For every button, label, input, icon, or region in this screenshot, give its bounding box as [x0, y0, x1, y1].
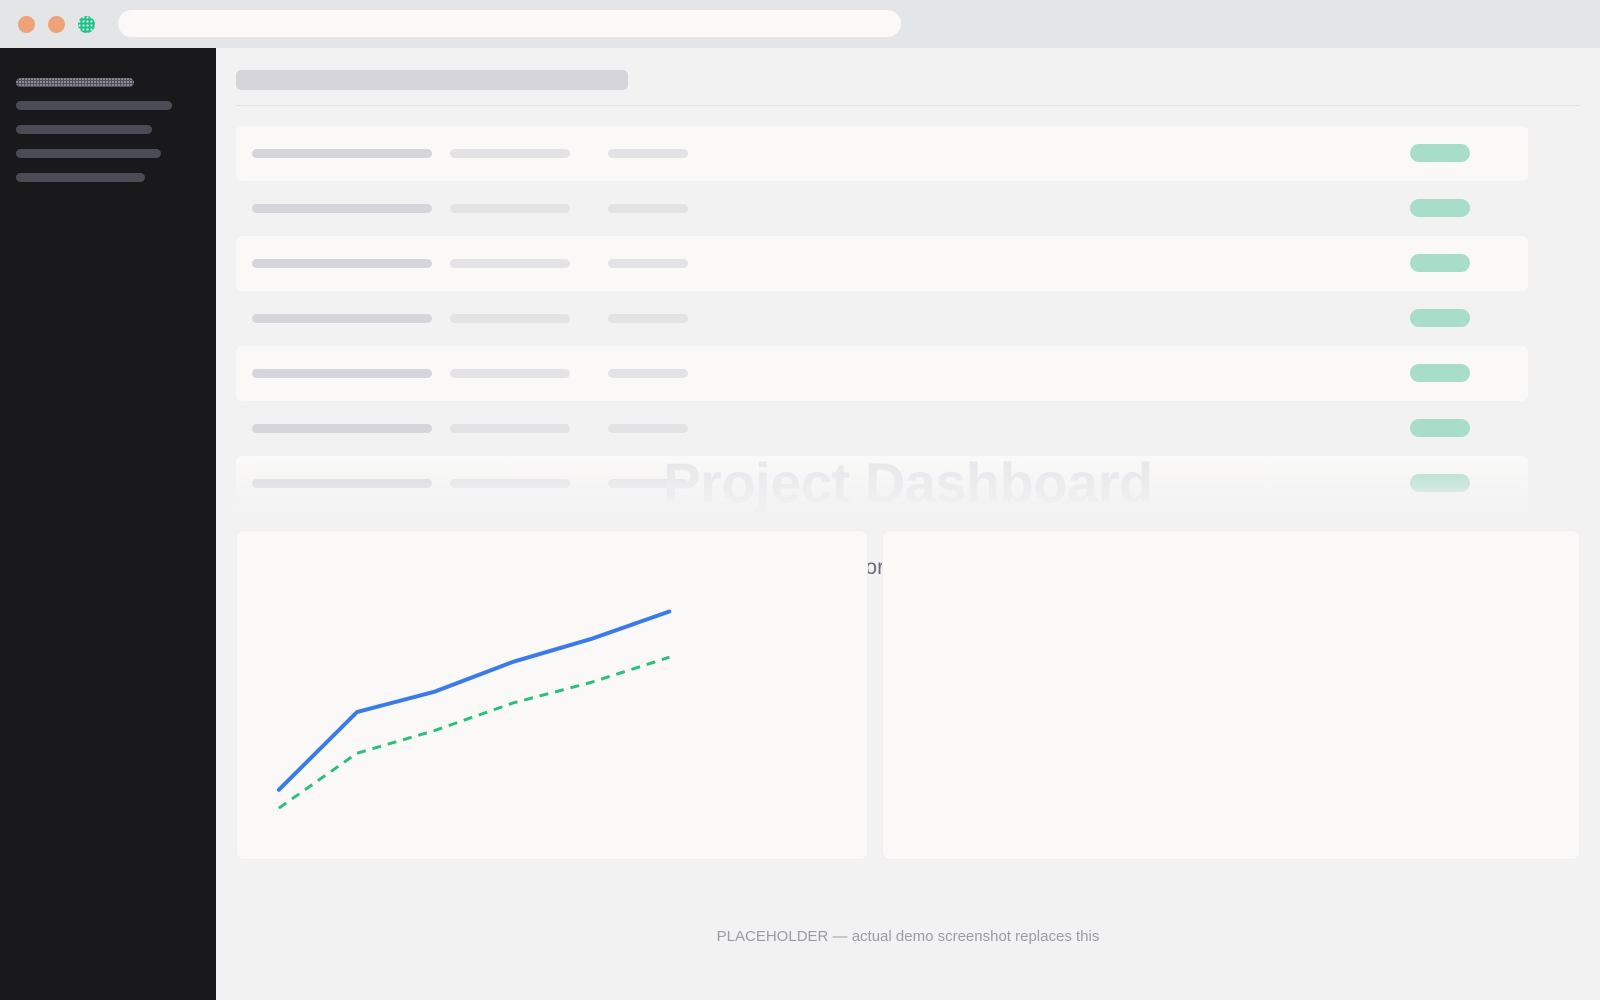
row-cell-tertiary	[608, 314, 688, 323]
row-list	[236, 126, 1528, 511]
status-badge	[1410, 419, 1470, 437]
row-cell-secondary	[450, 259, 570, 268]
table-row[interactable]	[236, 401, 1528, 456]
row-cell-primary	[252, 204, 432, 213]
table-row[interactable]	[236, 346, 1528, 401]
row-cell-primary	[252, 314, 432, 323]
row-cell-secondary	[450, 479, 570, 488]
header-divider	[236, 105, 1580, 106]
row-cell-primary	[252, 149, 432, 158]
table-row[interactable]	[236, 126, 1528, 181]
row-cell-primary	[252, 424, 432, 433]
sidebar	[0, 48, 216, 1000]
table-row[interactable]	[236, 181, 1528, 236]
page-title-placeholder	[236, 70, 628, 90]
row-cell-secondary	[450, 369, 570, 378]
status-badge	[1410, 364, 1470, 382]
sidebar-item-4[interactable]	[16, 173, 145, 182]
row-cell-tertiary	[608, 259, 688, 268]
sidebar-item-3[interactable]	[16, 149, 161, 158]
table-row[interactable]	[236, 456, 1528, 511]
row-cell-tertiary	[608, 204, 688, 213]
row-cell-tertiary	[608, 369, 688, 378]
sidebar-item-0[interactable]	[16, 78, 134, 87]
row-cell-tertiary	[608, 149, 688, 158]
series-actual-line	[279, 612, 669, 790]
chart-cards	[236, 530, 1580, 860]
chart-card-right[interactable]	[882, 530, 1580, 860]
status-badge	[1410, 474, 1470, 492]
status-badge	[1410, 199, 1470, 217]
status-badge	[1410, 254, 1470, 272]
status-badge	[1410, 309, 1470, 327]
row-cell-primary	[252, 479, 432, 488]
window-titlebar	[0, 0, 1600, 48]
address-bar-input[interactable]	[118, 10, 901, 37]
sidebar-item-1[interactable]	[16, 101, 172, 110]
row-cell-primary	[252, 369, 432, 378]
main-content: Project Dashboard Covenant-grade forecas…	[216, 48, 1600, 1000]
row-cell-tertiary	[608, 424, 688, 433]
row-cell-secondary	[450, 314, 570, 323]
app-window: Project Dashboard Covenant-grade forecas…	[0, 0, 1600, 1000]
traffic-lights	[18, 16, 95, 33]
table-row[interactable]	[236, 236, 1528, 291]
sidebar-item-2[interactable]	[16, 125, 152, 134]
line-chart	[237, 531, 867, 859]
row-cell-secondary	[450, 424, 570, 433]
row-cell-secondary	[450, 149, 570, 158]
maximize-button[interactable]	[78, 16, 95, 33]
chart-card-left[interactable]	[236, 530, 868, 860]
footer-note: PLACEHOLDER — actual demo screenshot rep…	[216, 928, 1600, 945]
row-cell-tertiary	[608, 479, 688, 488]
row-cell-primary	[252, 259, 432, 268]
table-row[interactable]	[236, 291, 1528, 346]
row-cell-secondary	[450, 204, 570, 213]
status-badge	[1410, 144, 1470, 162]
close-button[interactable]	[18, 16, 35, 33]
empty-chart	[883, 531, 1579, 859]
minimize-button[interactable]	[48, 16, 65, 33]
